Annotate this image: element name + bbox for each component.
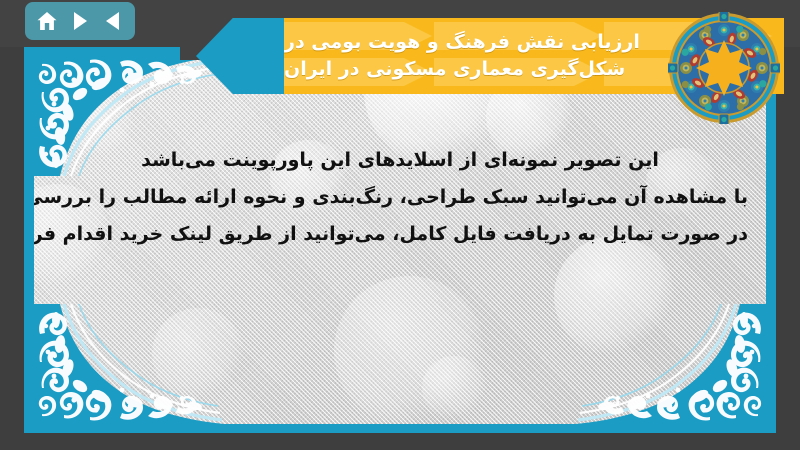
home-button[interactable]: [34, 8, 60, 34]
title-line-1: ارزیابی نقش فرهنگ و هویت بومی در: [284, 29, 640, 56]
slide-canvas: این تصویر نمونه‌ای از اسلایدهای این پاور…: [0, 0, 800, 450]
right-triangle-icon: [74, 12, 87, 30]
bokeh-circle: [152, 308, 244, 400]
bokeh-circle: [554, 236, 674, 356]
slide-body-text: این تصویر نمونه‌ای از اسلایدهای این پاور…: [34, 142, 766, 253]
bokeh-circle: [422, 356, 486, 420]
left-triangle-icon: [106, 12, 119, 30]
next-slide-button[interactable]: [67, 8, 93, 34]
body-line-3: در صورت تمایل به دریافت فایل کامل، می‌تو…: [52, 216, 748, 253]
slide-navigation-bar[interactable]: [25, 2, 135, 40]
body-line-1: این تصویر نمونه‌ای از اسلایدهای این پاور…: [52, 142, 748, 179]
title-line-2: شکل‌گیری معماری مسکونی در ایران: [284, 56, 625, 83]
persian-mandala-medallion-icon: [668, 12, 780, 124]
previous-slide-button[interactable]: [100, 8, 126, 34]
home-icon: [36, 11, 58, 31]
slide-content-area: این تصویر نمونه‌ای از اسلایدهای این پاور…: [34, 56, 766, 424]
body-line-2: با مشاهده آن می‌توانید سبک طراحی، رنگ‌بن…: [52, 179, 748, 216]
slide-frame: این تصویر نمونه‌ای از اسلایدهای این پاور…: [24, 47, 776, 433]
